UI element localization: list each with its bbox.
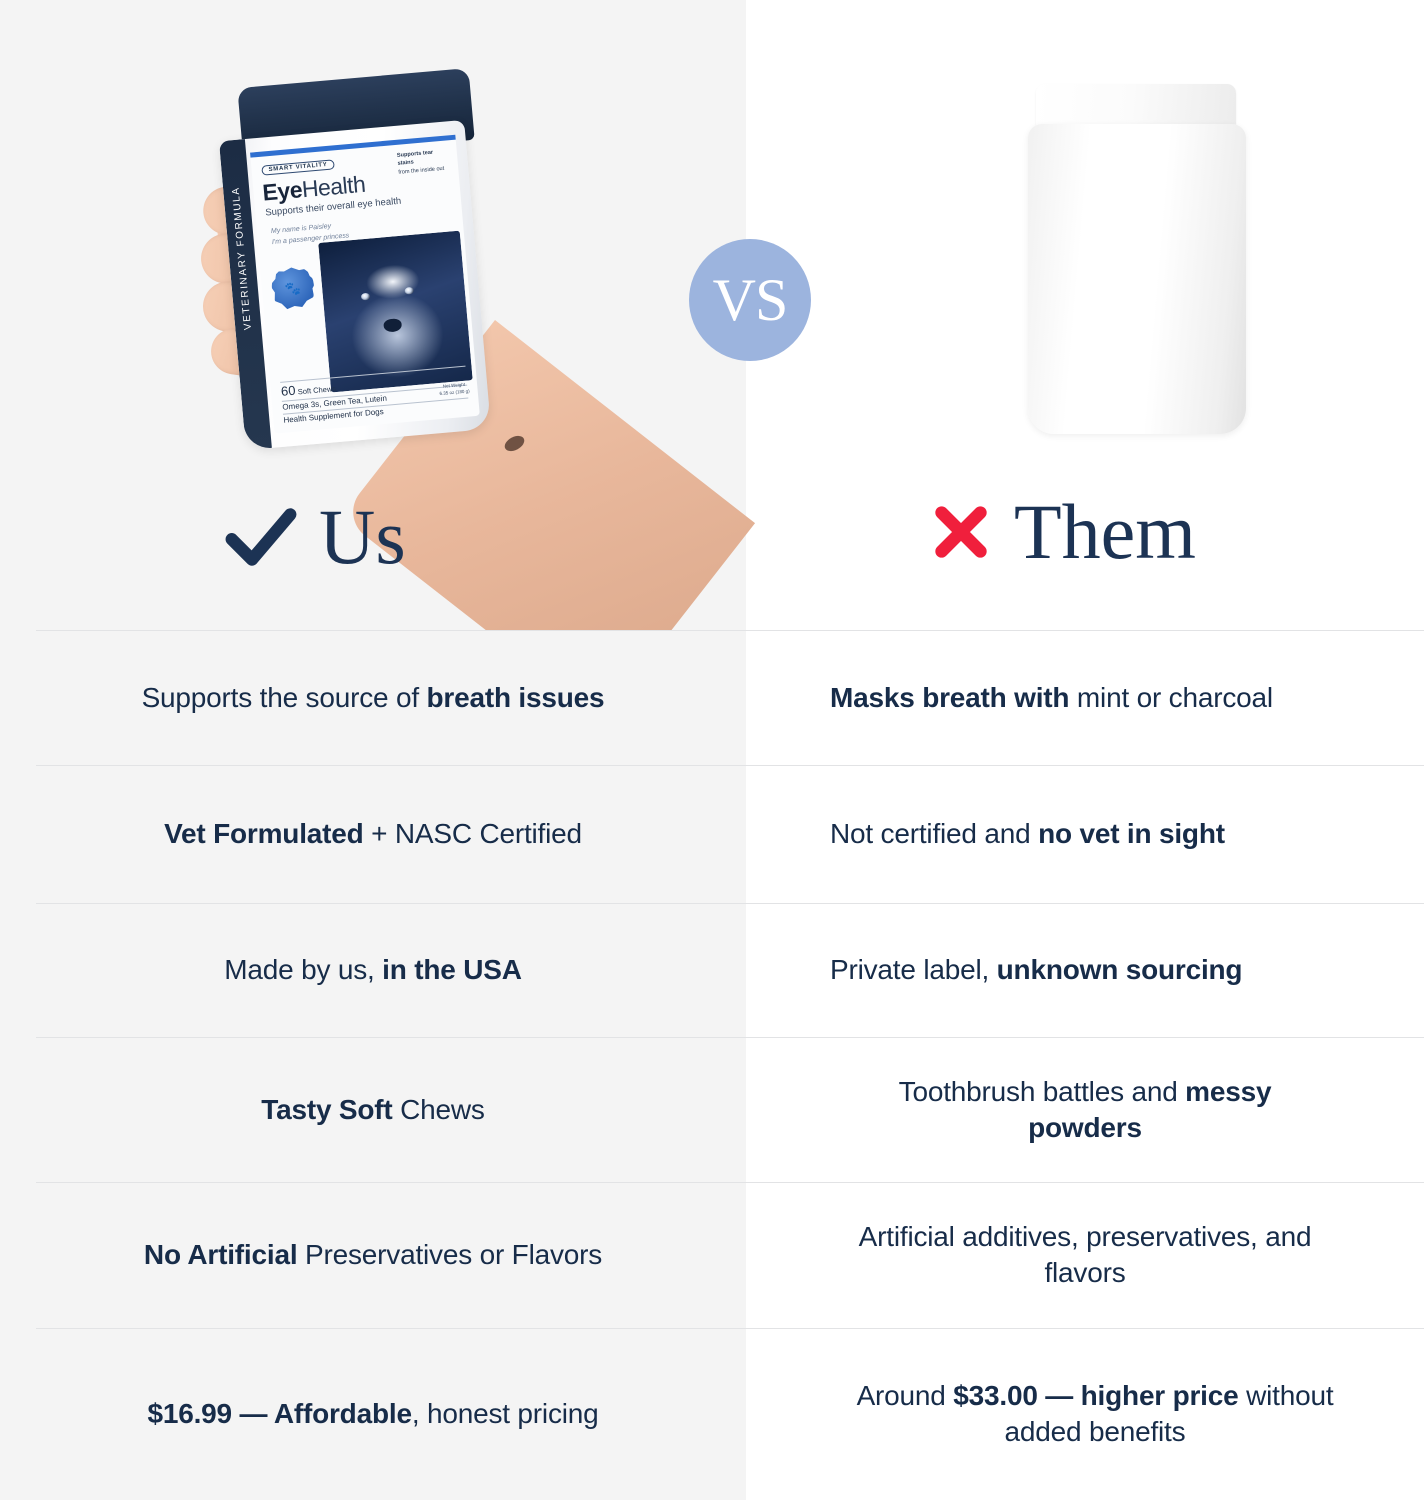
row-divider <box>36 1037 1424 1038</box>
paw-glyph: 🐾 <box>284 281 301 295</box>
table-row: Vet Formulated + NASC Certified Not cert… <box>0 765 1424 903</box>
dog-eye-left <box>361 293 371 301</box>
them-text: Private label, unknown sourcing <box>830 952 1242 988</box>
table-row: Tasty Soft Chews Toothbrush battles and … <box>0 1037 1424 1182</box>
us-cell: Made by us, in the USA <box>0 903 746 1037</box>
us-cell: $16.99 — Affordable, honest pricing <box>0 1328 746 1500</box>
us-text: No Artificial Preservatives or Flavors <box>144 1237 602 1273</box>
us-text: $16.99 — Affordable, honest pricing <box>147 1396 598 1432</box>
us-cell: No Artificial Preservatives or Flavors <box>0 1182 746 1328</box>
jar-body: VETERINARY FORMULA SMART VITALITY EyeHea… <box>219 120 491 450</box>
competitor-jar <box>1028 84 1246 434</box>
tear-stain-claim: Supports tear stains from the inside out <box>397 147 453 177</box>
net-weight: Net Weight 6.35 oz (180 g) <box>439 382 470 397</box>
dog-nose <box>383 318 402 333</box>
hero-section: VETERINARY FORMULA SMART VITALITY EyeHea… <box>0 0 1424 630</box>
row-divider <box>36 1182 1424 1183</box>
jar-side-text: VETERINARY FORMULA <box>232 200 254 330</box>
them-cell: Artificial additives, preservatives, and… <box>746 1182 1424 1328</box>
chew-count-number: 60 <box>280 383 296 399</box>
them-text: Not certified and no vet in sight <box>830 816 1225 852</box>
row-divider <box>36 765 1424 766</box>
product-label: SMART VITALITY EyeHealth Supports their … <box>250 135 480 434</box>
table-row: $16.99 — Affordable, honest pricing Arou… <box>0 1328 1424 1500</box>
them-text: Masks breath with mint or charcoal <box>830 680 1273 716</box>
us-text: Tasty Soft Chews <box>261 1092 484 1128</box>
them-text: Artificial additives, preservatives, and… <box>856 1219 1314 1291</box>
them-cell: Private label, unknown sourcing <box>746 903 1424 1037</box>
us-cell: Supports the source of breath issues <box>0 630 746 765</box>
comparison-infographic: VETERINARY FORMULA SMART VITALITY EyeHea… <box>0 0 1424 1500</box>
product-jar: VETERINARY FORMULA SMART VITALITY EyeHea… <box>218 78 498 448</box>
row-divider <box>36 1328 1424 1329</box>
them-cell: Not certified and no vet in sight <box>746 765 1424 903</box>
row-divider <box>36 630 1424 631</box>
us-label: Us <box>319 498 406 576</box>
us-cell: Vet Formulated + NASC Certified <box>0 765 746 903</box>
label-title-light: Health <box>301 171 367 202</box>
us-text: Vet Formulated + NASC Certified <box>164 816 582 852</box>
them-text: Around $33.00 — higher price without add… <box>826 1378 1364 1450</box>
them-cell: Masks breath with mint or charcoal <box>746 630 1424 765</box>
vs-label: VS <box>713 266 788 335</box>
row-divider <box>36 903 1424 904</box>
them-cell: Around $33.00 — higher price without add… <box>746 1328 1424 1500</box>
competitor-jar-body <box>1028 124 1246 434</box>
x-icon <box>930 501 992 563</box>
us-header: Us <box>225 498 406 576</box>
us-text: Supports the source of breath issues <box>142 680 605 716</box>
competitor-jar-lid <box>1036 84 1236 128</box>
them-header: Them <box>930 493 1196 571</box>
check-icon <box>225 501 297 573</box>
table-row: No Artificial Preservatives or Flavors A… <box>0 1182 1424 1328</box>
vs-badge: VS <box>689 239 811 361</box>
them-label: Them <box>1014 493 1196 571</box>
us-cell: Tasty Soft Chews <box>0 1037 746 1182</box>
paw-seal-icon: 🐾 <box>270 266 316 312</box>
chew-count-unit: Soft Chews <box>297 384 336 396</box>
us-text: Made by us, in the USA <box>224 952 521 988</box>
them-cell: Toothbrush battles and messy powders <box>746 1037 1424 1182</box>
them-text: Toothbrush battles and messy powders <box>866 1074 1304 1146</box>
table-row: Made by us, in the USA Private label, un… <box>0 903 1424 1037</box>
label-title-bold: Eye <box>261 176 303 205</box>
comparison-table: Supports the source of breath issues Mas… <box>0 630 1424 1500</box>
table-row: Supports the source of breath issues Mas… <box>0 630 1424 765</box>
dog-eye-right <box>404 287 414 295</box>
